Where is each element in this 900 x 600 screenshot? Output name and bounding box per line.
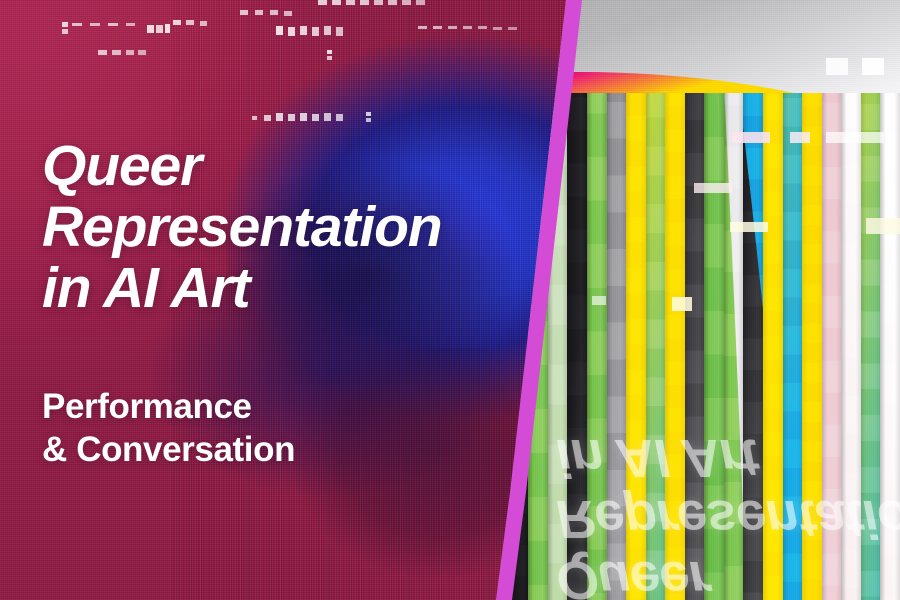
glitch-block <box>186 20 194 25</box>
smear-column <box>841 93 861 600</box>
glitch-block <box>508 27 517 30</box>
photo-glitch-block <box>826 58 848 75</box>
smear-seam <box>822 93 842 600</box>
glitch-block <box>156 25 163 33</box>
glitch-block <box>336 114 343 121</box>
smear-seam <box>567 93 587 600</box>
glitch-block <box>90 23 100 26</box>
glitch-block <box>264 115 271 121</box>
glitch-block <box>270 10 278 15</box>
glitch-block <box>252 116 257 120</box>
glitch-block <box>240 10 248 15</box>
glitch-block <box>126 50 134 55</box>
glitch-block <box>284 11 292 16</box>
smear-column <box>548 93 568 600</box>
smear-column <box>646 93 666 600</box>
smear-seam <box>880 93 900 600</box>
glitch-block <box>327 56 332 60</box>
smear-seam <box>861 93 881 600</box>
smear-column <box>704 93 724 600</box>
glitch-block <box>416 0 425 5</box>
glitch-block <box>318 0 327 5</box>
smear-column <box>880 93 900 600</box>
page-title: Queer Representation in AI Art <box>42 136 442 319</box>
glitch-block <box>147 25 154 33</box>
glitch-block <box>288 114 295 121</box>
smear-seam <box>704 93 724 600</box>
glitch-block <box>388 0 397 5</box>
photo-glitch-block <box>790 132 810 143</box>
glitch-block <box>402 0 411 5</box>
glitch-block <box>336 27 343 36</box>
smear-column <box>861 93 881 600</box>
glitch-block <box>288 27 295 36</box>
glitch-block <box>276 26 283 35</box>
photo-glitch-block <box>592 296 606 305</box>
smear-column <box>626 93 646 600</box>
glitch-block <box>138 50 146 55</box>
photo-glitch-block <box>694 183 732 193</box>
glitch-block <box>327 50 332 54</box>
glitch-block <box>493 27 502 30</box>
photo-glitch-block <box>826 132 884 143</box>
glitch-block <box>72 23 82 26</box>
poster-canvas: Queer Representation in AI Art Queer Rep… <box>0 0 900 600</box>
photo-glitch-block <box>866 218 900 234</box>
glitch-block <box>62 22 68 27</box>
smear-column <box>822 93 842 600</box>
glitch-block <box>418 26 427 29</box>
glitch-block <box>173 20 181 25</box>
smear-column <box>783 93 803 600</box>
glitch-block <box>324 113 331 121</box>
glitch-block <box>200 21 207 26</box>
smear-column <box>607 93 627 600</box>
page-subtitle: Performance & Conversation <box>42 386 295 471</box>
glitch-block <box>108 23 118 26</box>
glitch-block <box>463 26 472 29</box>
smear-seam <box>646 93 666 600</box>
glitch-block <box>126 23 135 26</box>
glitch-block <box>346 0 355 5</box>
glitch-block <box>433 26 442 29</box>
photo-glitch-block <box>732 132 770 143</box>
photo-glitch-block <box>862 58 884 75</box>
smear-seam <box>587 93 607 600</box>
smear-seam <box>724 93 744 600</box>
smear-column <box>567 93 587 600</box>
smear-column <box>743 93 763 600</box>
glitch-block <box>324 26 331 35</box>
smear-seam <box>665 93 685 600</box>
glitch-block <box>366 118 371 122</box>
smear-column <box>685 93 705 600</box>
glitch-block <box>312 27 319 36</box>
smear-column <box>763 93 783 600</box>
glitch-block <box>62 29 68 34</box>
smear-seam <box>548 93 568 600</box>
smear-seam <box>763 93 783 600</box>
smear-column <box>724 93 744 600</box>
glitch-block <box>165 24 170 33</box>
smear-seam <box>607 93 627 600</box>
glitch-block <box>255 10 263 15</box>
glitch-block <box>112 50 121 55</box>
smear-column <box>587 93 607 600</box>
smear-seam <box>802 93 822 600</box>
smear-seam <box>685 93 705 600</box>
smear-column <box>665 93 685 600</box>
glitch-block <box>448 26 457 29</box>
smear-seam <box>841 93 861 600</box>
glitch-block <box>98 50 107 55</box>
glitch-block <box>360 0 369 5</box>
glitch-block <box>332 0 341 5</box>
smear-seam <box>626 93 646 600</box>
smear-column <box>802 93 822 600</box>
glitch-block <box>366 112 371 116</box>
glitch-block <box>374 0 383 5</box>
smear-seam <box>743 93 763 600</box>
glitch-block <box>478 26 487 29</box>
photo-glitch-block <box>730 222 768 232</box>
glitch-block <box>300 26 307 35</box>
glitch-block <box>312 114 319 121</box>
smear-seam <box>783 93 803 600</box>
glitch-block <box>300 113 307 121</box>
glitch-block <box>276 113 283 121</box>
photo-glitch-block <box>672 297 692 311</box>
